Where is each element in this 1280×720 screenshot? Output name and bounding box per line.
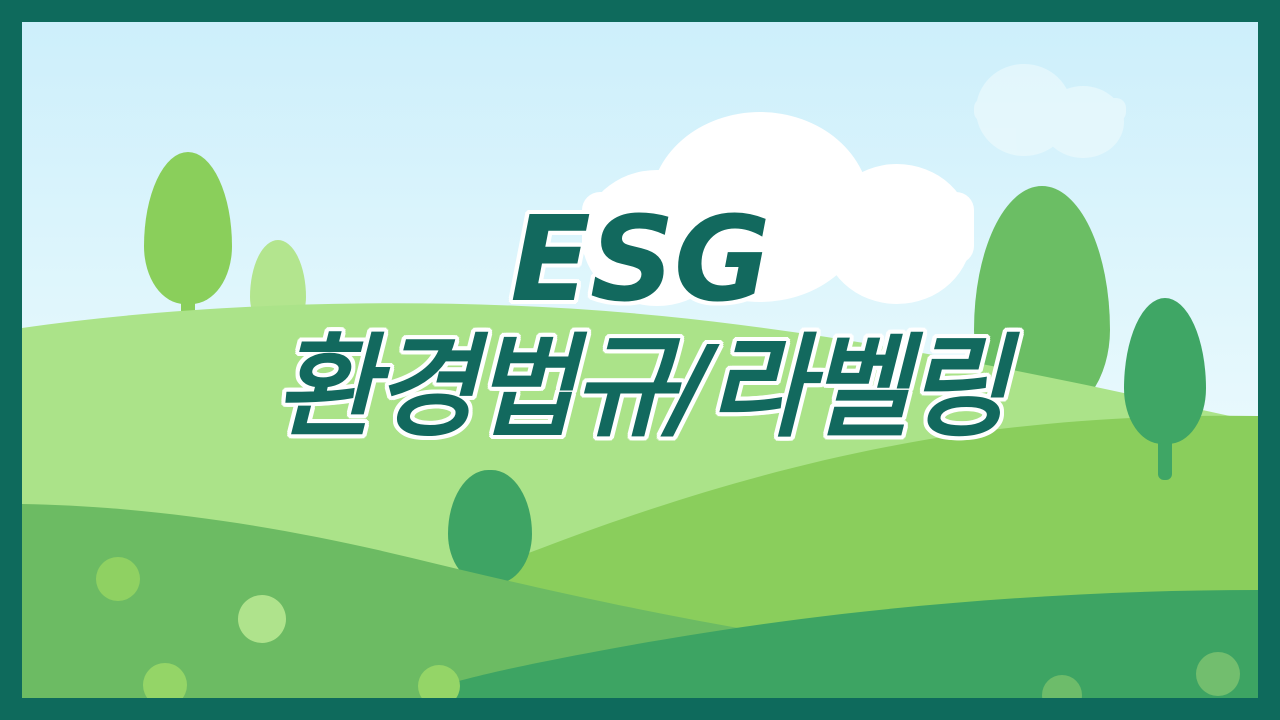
decor-dot (1196, 652, 1240, 696)
decor-dot (96, 557, 140, 601)
tree-right-small-icon (1124, 298, 1206, 484)
esg-thumbnail-card: ESG 환경법규/라벨링 (0, 0, 1280, 720)
hill-darkest-layer (22, 542, 1258, 698)
decor-dot (238, 595, 286, 643)
cloud-large-center-icon (582, 112, 982, 262)
illustration-scene: ESG 환경법규/라벨링 (22, 22, 1258, 698)
cloud-faint-top-right-icon (970, 58, 1130, 122)
